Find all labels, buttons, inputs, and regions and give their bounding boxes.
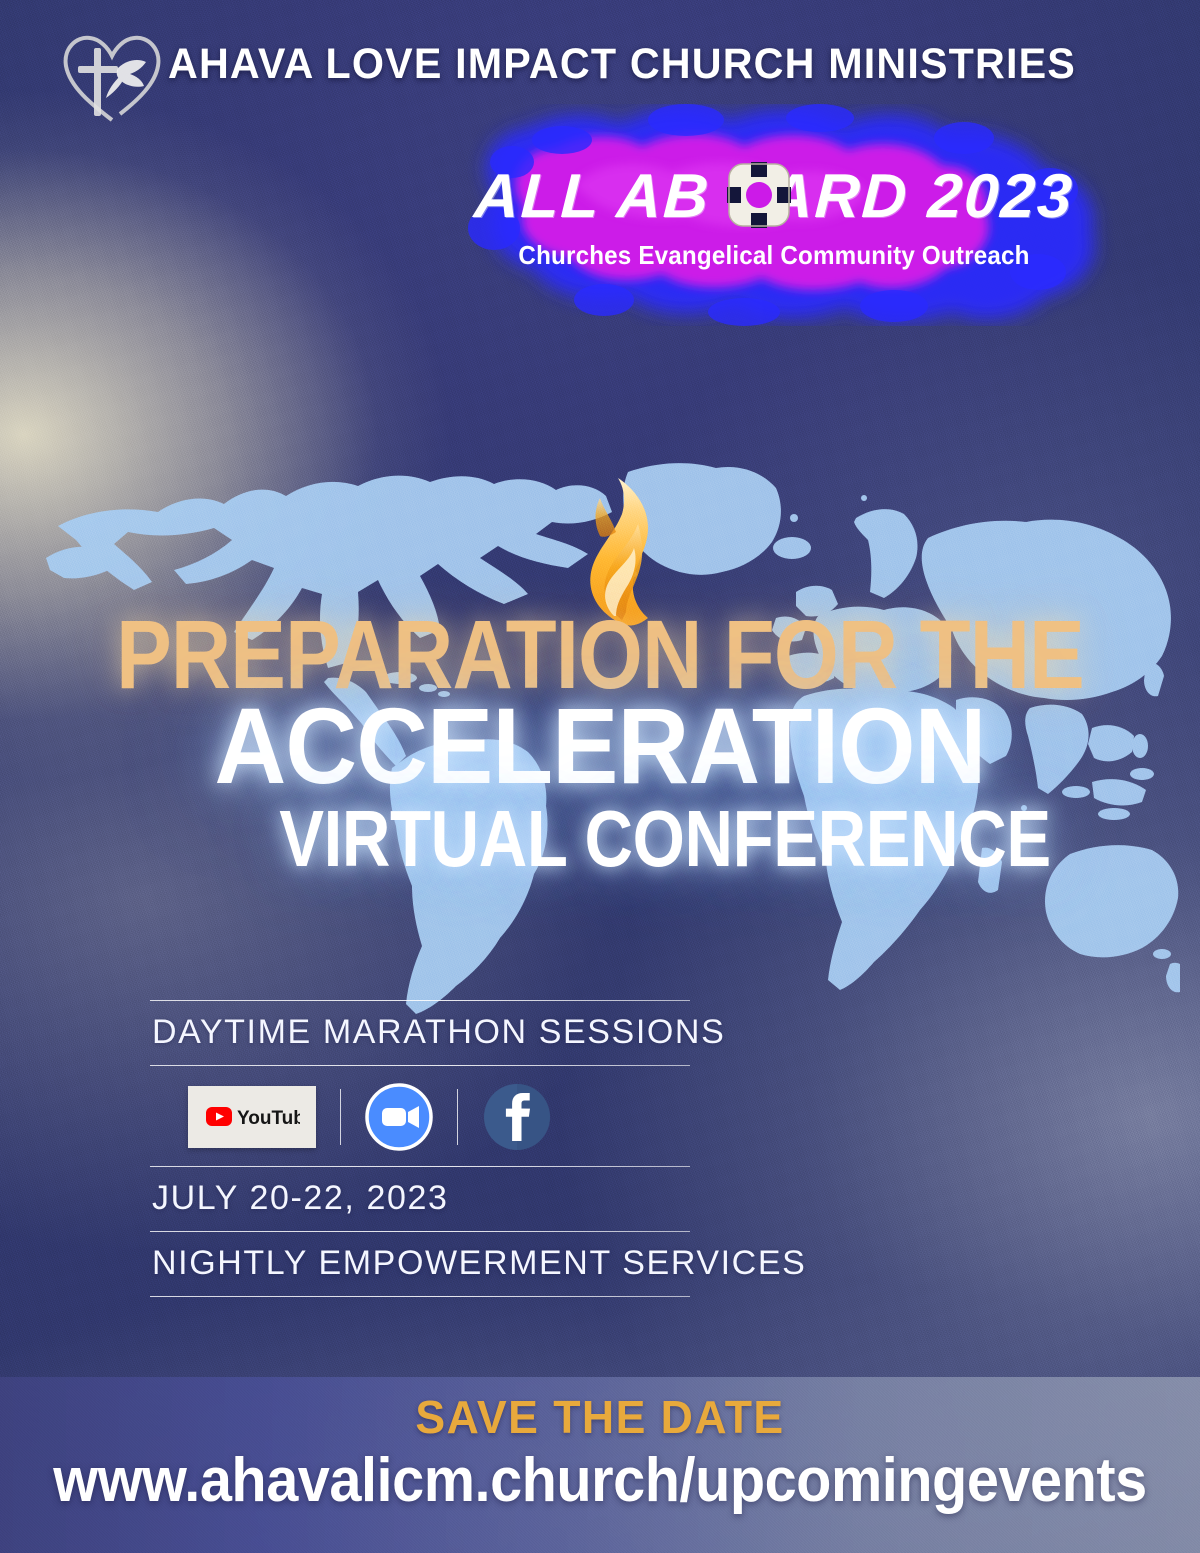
hero-title-line3: VIRTUAL CONFERENCE: [216, 799, 1115, 879]
badge-title-part1: ALL AB: [473, 162, 712, 231]
event-details: DAYTIME MARATHON SESSIONS YouTube: [150, 1000, 690, 1297]
event-flyer: AHAVA LOVE IMPACT CHURCH MINISTRIES: [0, 0, 1200, 1553]
youtube-icon[interactable]: YouTube: [188, 1086, 316, 1148]
zoom-camera-icon[interactable]: [365, 1083, 433, 1151]
nightly-services-label: NIGHTLY EMPOWERMENT SERVICES: [150, 1232, 690, 1296]
website-url-link[interactable]: www.ahavalicm.church/upcomingevents: [42, 1445, 1158, 1516]
badge-title-part2: ARD 2023: [766, 162, 1075, 231]
all-aboard-badge: ALL ABARD 2023 Churches Evangelical Comm…: [424, 104, 1124, 326]
life-ring-icon: [727, 162, 791, 228]
facebook-icon[interactable]: [482, 1082, 552, 1152]
page-title: AHAVA LOVE IMPACT CHURCH MINISTRIES: [168, 40, 1076, 89]
heart-cross-dove-icon: [56, 24, 168, 128]
badge-subtitle: Churches Evangelical Community Outreach: [449, 240, 1100, 271]
hero-title: PREPARATION FOR THE ACCELERATION VIRTUAL…: [0, 610, 1200, 879]
divider: [457, 1089, 458, 1145]
divider: [340, 1089, 341, 1145]
svg-text:YouTube: YouTube: [237, 1108, 300, 1129]
event-dates-label: JULY 20-22, 2023: [150, 1167, 690, 1231]
save-the-date-label: SAVE THE DATE: [18, 1390, 1182, 1444]
hero-title-line2: ACCELERATION: [48, 695, 1152, 797]
platform-icon-row: YouTube: [150, 1066, 690, 1166]
daytime-sessions-label: DAYTIME MARATHON SESSIONS: [150, 1001, 690, 1065]
divider: [150, 1296, 690, 1297]
